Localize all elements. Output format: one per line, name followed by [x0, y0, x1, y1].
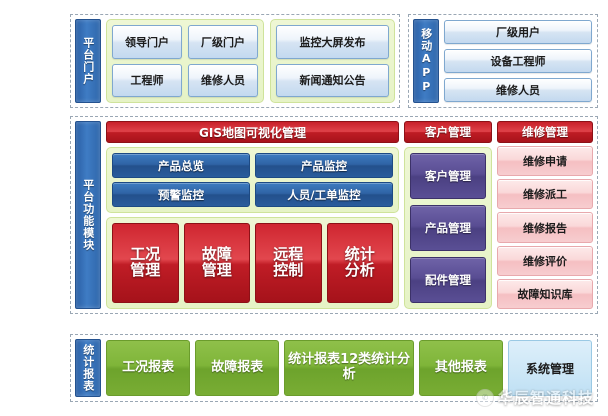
rail-label-text: 平台门户 — [82, 37, 94, 85]
gis-button-product-overview[interactable]: 产品总览 — [112, 153, 250, 178]
portal-button-news-notice[interactable]: 新闻通知公告 — [276, 64, 389, 98]
repair-button-repair-report[interactable]: 维修报告 — [497, 212, 593, 242]
repair-button-fault-knowledge-base[interactable]: 故障知识库 — [497, 279, 593, 309]
report-button-working-condition[interactable]: 工况报表 — [106, 340, 190, 396]
column-customer-management: 客户管理 客户管理 产品管理 配件管理 — [404, 121, 492, 309]
portal-button-maintenance-staff[interactable]: 维修人员 — [188, 64, 258, 98]
customer-header: 客户管理 — [404, 121, 492, 143]
portal-button-monitor-bigscreen[interactable]: 监控大屏发布 — [276, 25, 389, 59]
core-button-line2: 分析 — [345, 263, 375, 279]
mobile-button-factory-user[interactable]: 厂级用户 — [444, 20, 592, 44]
portal-role-row-2: 工程师 维修人员 — [112, 64, 258, 98]
customer-button-product-management[interactable]: 产品管理 — [410, 205, 486, 251]
portal-wide-row-2: 新闻通知公告 — [276, 64, 389, 98]
portal-button-engineer[interactable]: 工程师 — [112, 64, 182, 98]
report-button-statistical-12-categories[interactable]: 统计报表12类统计分析 — [284, 340, 413, 396]
rail-label-mobile-app: 移动APP — [413, 19, 439, 103]
column-repair-management: 维修管理 维修申请 维修派工 维修报告 维修评价 故障知识库 — [497, 121, 593, 309]
repair-button-list: 维修申请 维修派工 维修报告 维修评价 故障知识库 — [497, 146, 593, 309]
rail-label-platform-portal: 平台门户 — [75, 19, 101, 103]
repair-button-repair-evaluation[interactable]: 维修评价 — [497, 246, 593, 276]
core-function-panel: 工况 管理 故障 管理 远程 控制 — [106, 217, 399, 309]
report-button-other[interactable]: 其他报表 — [419, 340, 503, 396]
customer-button-customer-management[interactable]: 客户管理 — [410, 153, 486, 199]
gis-button-staff-workorder-monitor[interactable]: 人员/工单监控 — [255, 182, 393, 207]
core-button-line2: 控制 — [273, 263, 303, 279]
portal-panels: 领导门户 厂级门户 工程师 维修人员 监控大屏发布 新闻通知公告 — [106, 15, 399, 107]
portal-publish-panel: 监控大屏发布 新闻通知公告 — [270, 19, 395, 103]
portal-button-leader[interactable]: 领导门户 — [112, 25, 182, 59]
rail-label-text: 统计报表 — [82, 344, 94, 392]
column-gis: GIS地图可视化管理 产品总览 产品监控 预警监控 人员/工单监控 工况 — [106, 121, 399, 309]
report-button-system-management[interactable]: 系统管理 — [508, 340, 592, 396]
customer-button-panel: 客户管理 产品管理 配件管理 — [404, 147, 492, 309]
rail-label-text: 平台功能模块 — [82, 179, 94, 251]
report-button-fault[interactable]: 故障报表 — [195, 340, 279, 396]
modules-body: GIS地图可视化管理 产品总览 产品监控 预警监控 人员/工单监控 工况 — [106, 117, 597, 313]
portal-role-panel: 领导门户 厂级门户 工程师 维修人员 — [106, 19, 264, 103]
repair-button-repair-dispatch[interactable]: 维修派工 — [497, 179, 593, 209]
portal-role-row-1: 领导门户 厂级门户 — [112, 25, 258, 59]
section-mobile-app: 移动APP 厂级用户 设备工程师 维修人员 — [408, 14, 598, 108]
rail-label-text: 移动APP — [420, 28, 432, 94]
core-button-line2: 管理 — [130, 263, 160, 279]
section-statistics-reports: 统计报表 工况报表 故障报表 统计报表12类统计分析 其他报表 系统管理 — [70, 334, 598, 402]
portal-button-factory[interactable]: 厂级门户 — [188, 25, 258, 59]
rail-label-platform-modules: 平台功能模块 — [75, 121, 101, 309]
mobile-button-equipment-engineer[interactable]: 设备工程师 — [444, 49, 592, 73]
gis-row-1: 产品总览 产品监控 — [112, 153, 393, 178]
rail-label-statistics-reports: 统计报表 — [75, 339, 101, 397]
section-platform-portal: 平台门户 领导门户 厂级门户 工程师 维修人员 监控大屏发布 新闻通知公告 — [70, 14, 400, 108]
gis-button-product-monitor[interactable]: 产品监控 — [255, 153, 393, 178]
repair-button-repair-request[interactable]: 维修申请 — [497, 146, 593, 176]
core-button-working-condition-management[interactable]: 工况 管理 — [112, 223, 179, 303]
gis-row-2: 预警监控 人员/工单监控 — [112, 182, 393, 207]
reports-body: 工况报表 故障报表 统计报表12类统计分析 其他报表 系统管理 — [106, 335, 597, 401]
repair-header: 维修管理 — [497, 121, 593, 143]
gis-button-panel: 产品总览 产品监控 预警监控 人员/工单监控 — [106, 147, 399, 213]
gis-button-alarm-monitor[interactable]: 预警监控 — [112, 182, 250, 207]
core-button-line2: 管理 — [202, 263, 232, 279]
architecture-diagram: 平台门户 领导门户 厂级门户 工程师 维修人员 监控大屏发布 新闻通知公告 — [0, 0, 608, 416]
customer-button-parts-management[interactable]: 配件管理 — [410, 257, 486, 303]
mobile-button-list: 厂级用户 设备工程师 维修人员 — [444, 15, 597, 107]
portal-wide-row-1: 监控大屏发布 — [276, 25, 389, 59]
section-platform-modules: 平台功能模块 GIS地图可视化管理 产品总览 产品监控 预警监控 人员/工单监控 — [70, 116, 598, 314]
mobile-button-maintenance-staff[interactable]: 维修人员 — [444, 78, 592, 102]
core-button-statistical-analysis[interactable]: 统计 分析 — [327, 223, 394, 303]
core-button-fault-management[interactable]: 故障 管理 — [184, 223, 251, 303]
core-button-remote-control[interactable]: 远程 控制 — [255, 223, 322, 303]
gis-header: GIS地图可视化管理 — [106, 121, 399, 143]
